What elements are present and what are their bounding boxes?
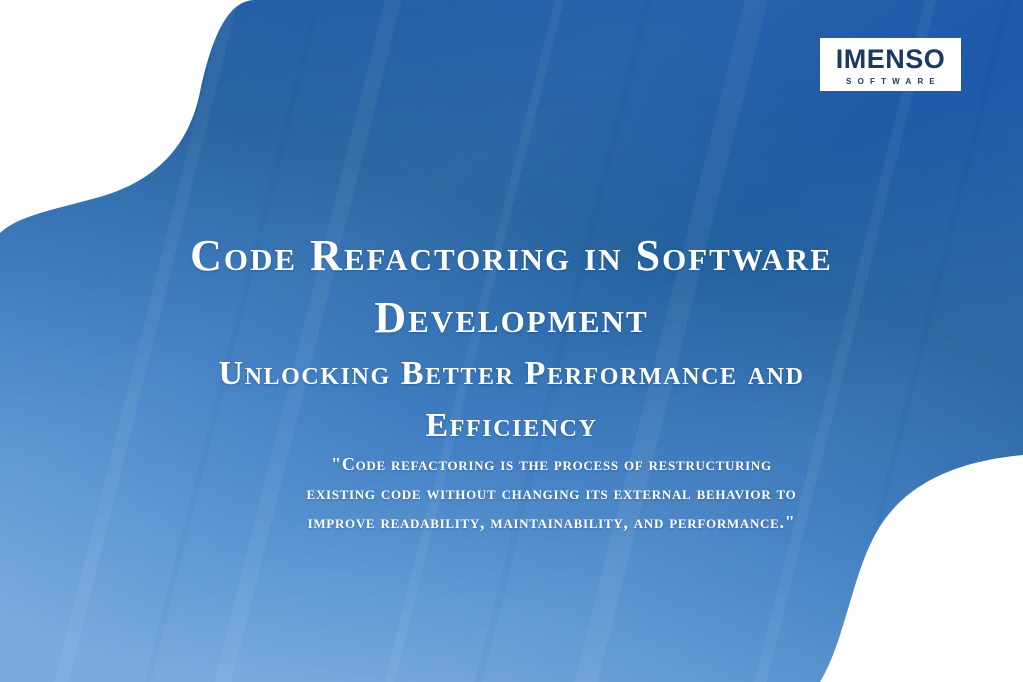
brand-logo-name: IMENSO [836, 46, 946, 73]
pull-quote-line-1: "Code refactoring is the process of rest… [160, 450, 943, 479]
pull-quote-line-2: existing code without changing its exter… [160, 479, 943, 508]
page-title-line-1: Code Refactoring in Software [190, 231, 833, 280]
brand-logo[interactable]: IMENSO SOFTWARE [820, 38, 961, 91]
pull-quote-line-3: improve readability, maintainability, an… [160, 508, 943, 537]
poster-canvas: IMENSO SOFTWARE Code Refactoring in Soft… [0, 0, 1023, 682]
page-title: Code Refactoring in Software Development [30, 225, 993, 349]
page-subtitle-line-2: Efficiency [425, 407, 597, 444]
page-subtitle: Unlocking Better Performance and Efficie… [30, 348, 993, 452]
page-title-line-2: Development [374, 293, 648, 342]
brand-logo-tagline: SOFTWARE [840, 78, 941, 86]
page-subtitle-line-1: Unlocking Better Performance and [218, 355, 804, 392]
pull-quote: "Code refactoring is the process of rest… [160, 450, 943, 537]
